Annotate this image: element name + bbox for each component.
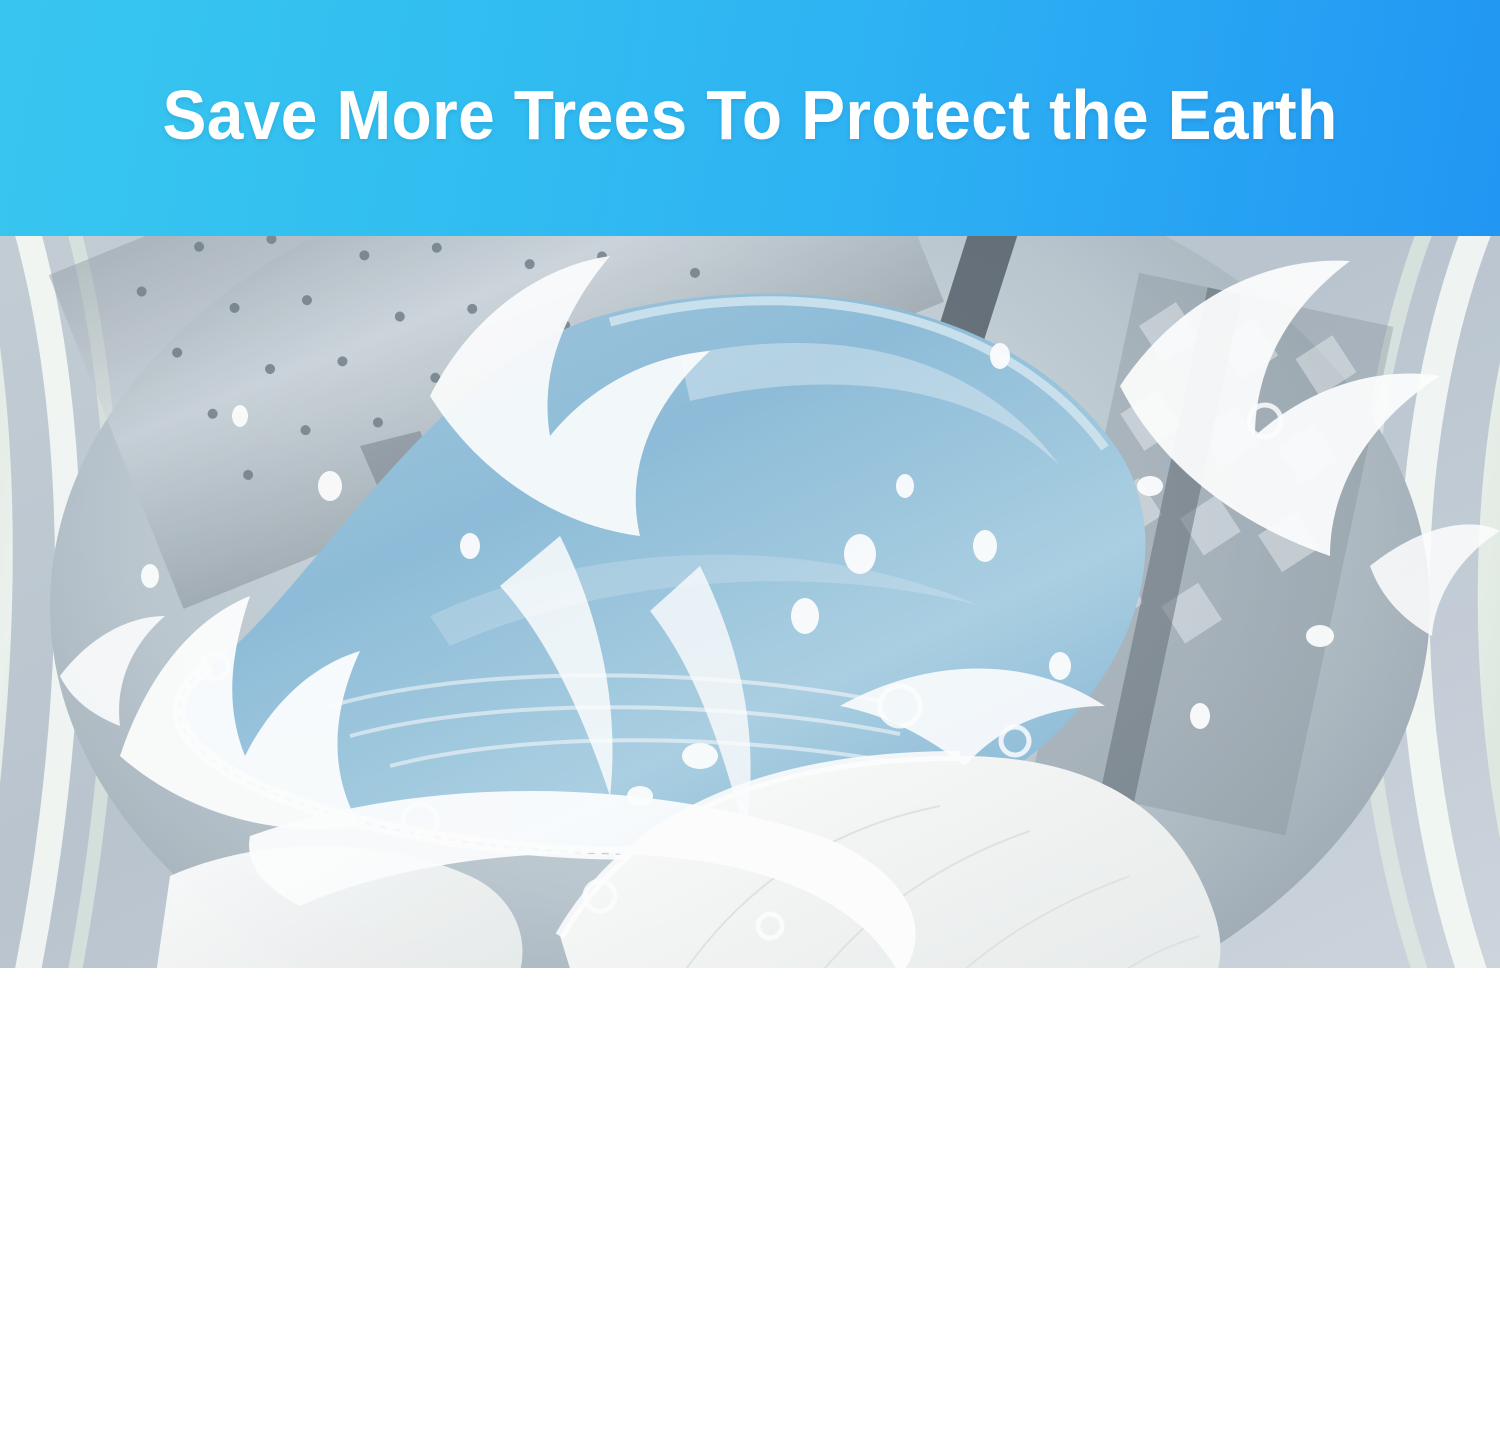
comparison-section: 1 Reusable Bed Pad 500+ Disposable Pads [0,968,1500,1454]
page-title: Save More Trees To Protect the Earth [162,80,1337,156]
product-infographic: Save More Trees To Protect the Earth [0,0,1500,1454]
hero-washing-machine-image [0,236,1500,968]
header-banner: Save More Trees To Protect the Earth [0,0,1500,236]
